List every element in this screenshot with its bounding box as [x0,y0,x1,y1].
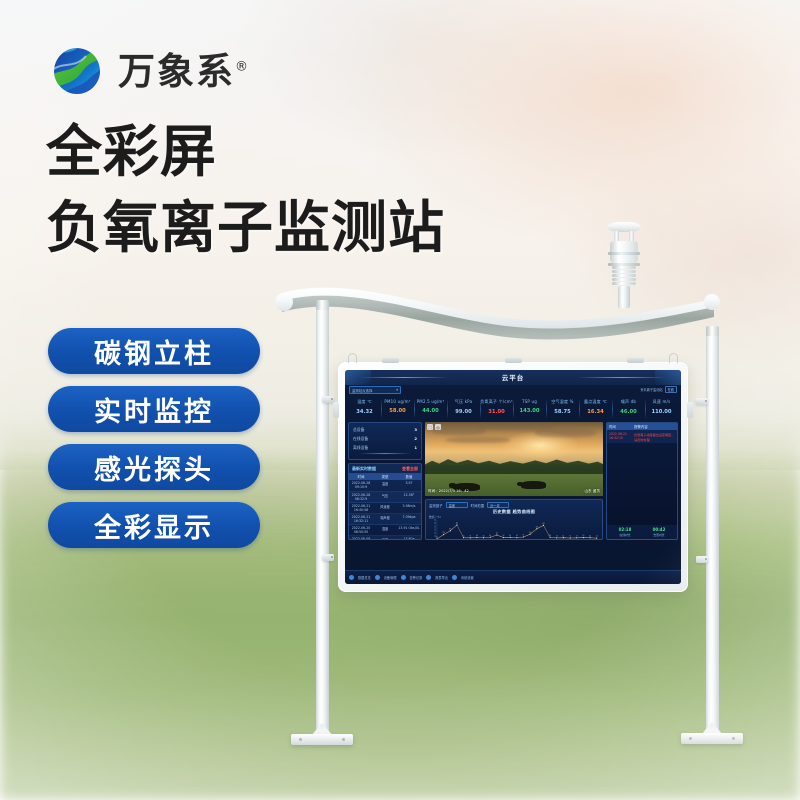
feature-badge-4[interactable]: 全彩显示 [48,502,260,548]
headline-line-2: 负氧离子监测站 [46,200,445,258]
feature-badge-3[interactable]: 感光探头 [48,444,260,490]
feature-badge-2[interactable]: 实时监控 [48,386,260,432]
brand-lockup: 万象系® [48,42,250,100]
registered-trademark-icon: ® [235,59,250,74]
brand-name: 万象系® [118,53,250,90]
feature-badge-list: 碳钢立柱实时监控感光探头全彩显示 [48,328,260,548]
brand-name-text: 万象系 [118,50,235,93]
globe-swirl-logo-icon [48,42,106,100]
headline-line-1: 全彩屏 [46,124,445,182]
page-title: 全彩屏 负氧离子监测站 [46,124,445,258]
product-banner: 云平台 监测站点选择 ▾ 负氧离子监测站 在线 温度 ℃34.32PM10 ug… [0,0,800,800]
feature-badge-1[interactable]: 碳钢立柱 [48,328,260,374]
